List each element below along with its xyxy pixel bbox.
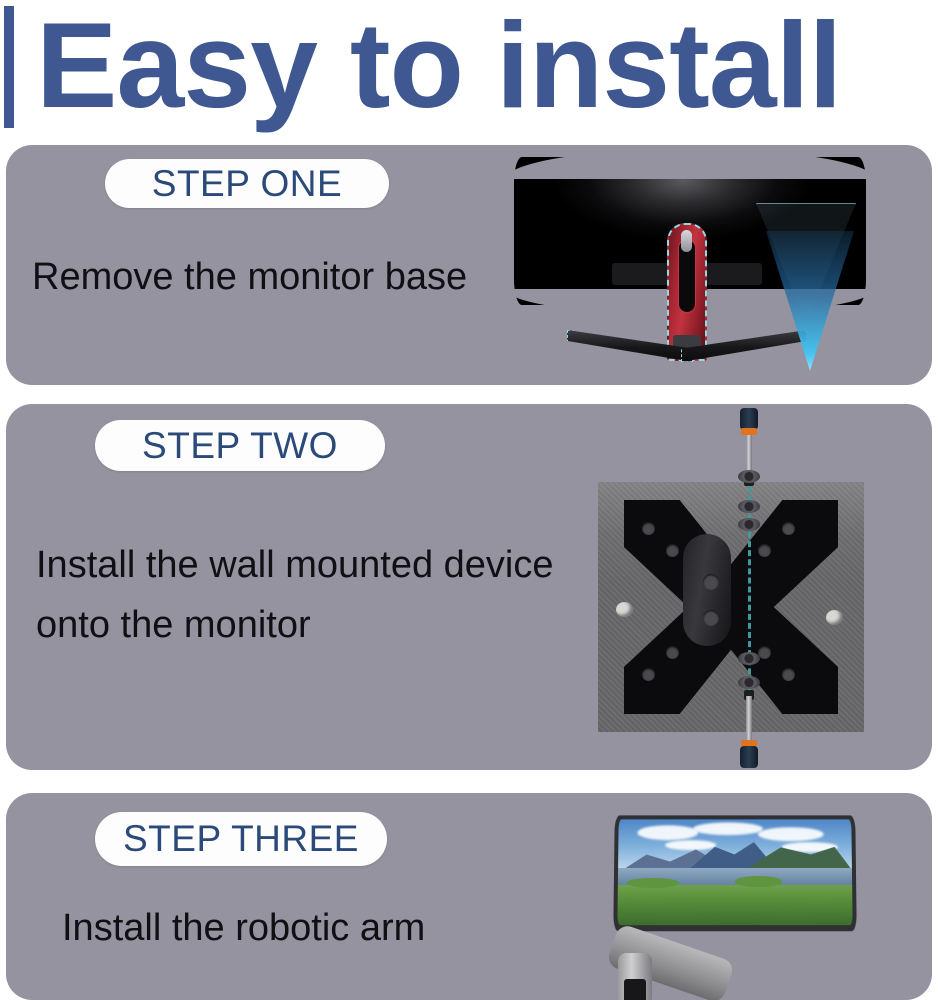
- boss-screw-hole-lower: [703, 610, 719, 626]
- screwdriver-collar: [741, 428, 757, 435]
- wall-anchor-hole-right: [826, 610, 843, 625]
- wallpaper-grass: [617, 885, 852, 925]
- wallpaper-cloud: [693, 823, 763, 836]
- down-arrow-icon: [756, 203, 864, 373]
- step-badge-two: STEP TWO: [95, 420, 385, 471]
- plate-screw-hole: [782, 668, 795, 681]
- arrow-solid-triangle: [766, 231, 854, 371]
- step-badge-three-label: STEP THREE: [123, 818, 359, 860]
- step-badge-one-label: STEP ONE: [152, 163, 342, 205]
- wallpaper-cloud: [665, 840, 716, 849]
- step-card-one: STEP ONE Remove the monitor base: [6, 145, 932, 385]
- plate-screw-hole: [782, 522, 795, 535]
- step-two-description: Install the wall mounted device onto the…: [36, 535, 596, 655]
- page-header: Easy to install: [0, 0, 938, 140]
- washer-fourth: [738, 652, 760, 665]
- robotic-arm-illustration: [562, 793, 932, 1000]
- monitor-frame: [613, 815, 856, 931]
- step-card-three: STEP THREE Install the robotic arm: [6, 793, 932, 1000]
- wallpaper-grass-island: [735, 876, 782, 887]
- stand-cap: [681, 230, 692, 252]
- step-badge-two-label: STEP TWO: [142, 425, 338, 467]
- plate-screw-hole: [666, 544, 679, 557]
- step-three-description: Install the robotic arm: [62, 898, 425, 958]
- robotic-arm-post: [624, 979, 646, 1000]
- page-title: Easy to install: [36, 0, 841, 136]
- monitor-base-illustration: [492, 145, 932, 385]
- screwdriver-shaft: [746, 696, 752, 740]
- plate-screw-hole: [642, 522, 655, 535]
- vesa-plate-illustration: [592, 404, 932, 770]
- vesa-plate-photo: [598, 482, 864, 732]
- washer-top: [738, 470, 760, 483]
- wallpaper-grass-island: [627, 878, 679, 888]
- boss-screw-hole-upper: [703, 574, 719, 590]
- screwdriver-handle: [740, 408, 758, 430]
- plate-center-boss: [683, 534, 731, 646]
- step-card-two: STEP TWO Install the wall mounted device…: [6, 404, 932, 770]
- washer-third: [738, 518, 760, 531]
- screwdriver-bottom: [740, 690, 758, 768]
- base-wing-left: [567, 330, 693, 362]
- step-badge-one: STEP ONE: [105, 159, 389, 208]
- wall-anchor-hole-left: [616, 602, 633, 617]
- title-accent-bar: [4, 6, 14, 128]
- washer-second: [738, 500, 760, 513]
- washer-fifth: [738, 676, 760, 689]
- monitor-screen-wallpaper: [617, 819, 852, 925]
- monitor-top-curve-mask: [506, 149, 874, 179]
- plate-screw-hole: [642, 668, 655, 681]
- screwdriver-handle: [740, 746, 758, 768]
- plate-screw-hole: [758, 544, 771, 557]
- vesa-mount-plate: [624, 500, 838, 714]
- plate-screw-hole: [666, 646, 679, 659]
- wallpaper-cloud: [637, 826, 698, 841]
- step-one-description: Remove the monitor base: [32, 247, 467, 307]
- step-badge-three: STEP THREE: [95, 812, 387, 866]
